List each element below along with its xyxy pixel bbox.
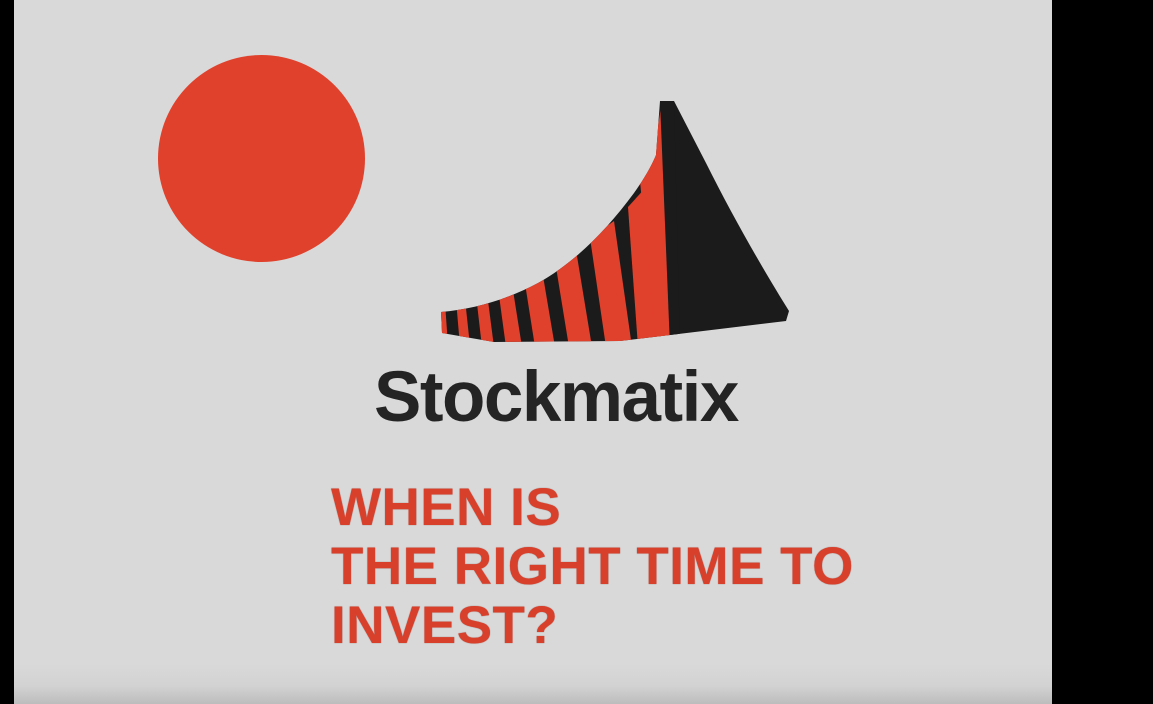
headline-line-2: THE RIGHT TIME TO bbox=[331, 537, 854, 596]
letterbox-bar-left bbox=[0, 0, 14, 704]
headline-line-1: WHEN IS bbox=[331, 478, 854, 537]
headline: WHEN IS THE RIGHT TIME TO INVEST? bbox=[331, 478, 854, 655]
red-circle-sun-icon bbox=[158, 55, 365, 262]
video-frame: Stockmatix WHEN IS THE RIGHT TIME TO INV… bbox=[14, 0, 1052, 704]
brand-wordmark: Stockmatix bbox=[374, 362, 738, 433]
letterbox-bar-right bbox=[1052, 0, 1153, 704]
bottom-shadow-gradient bbox=[14, 664, 1052, 704]
headline-line-3: INVEST? bbox=[331, 596, 854, 655]
striped-mountain-logo-icon bbox=[434, 95, 799, 350]
video-player[interactable]: Stockmatix WHEN IS THE RIGHT TIME TO INV… bbox=[0, 0, 1153, 704]
